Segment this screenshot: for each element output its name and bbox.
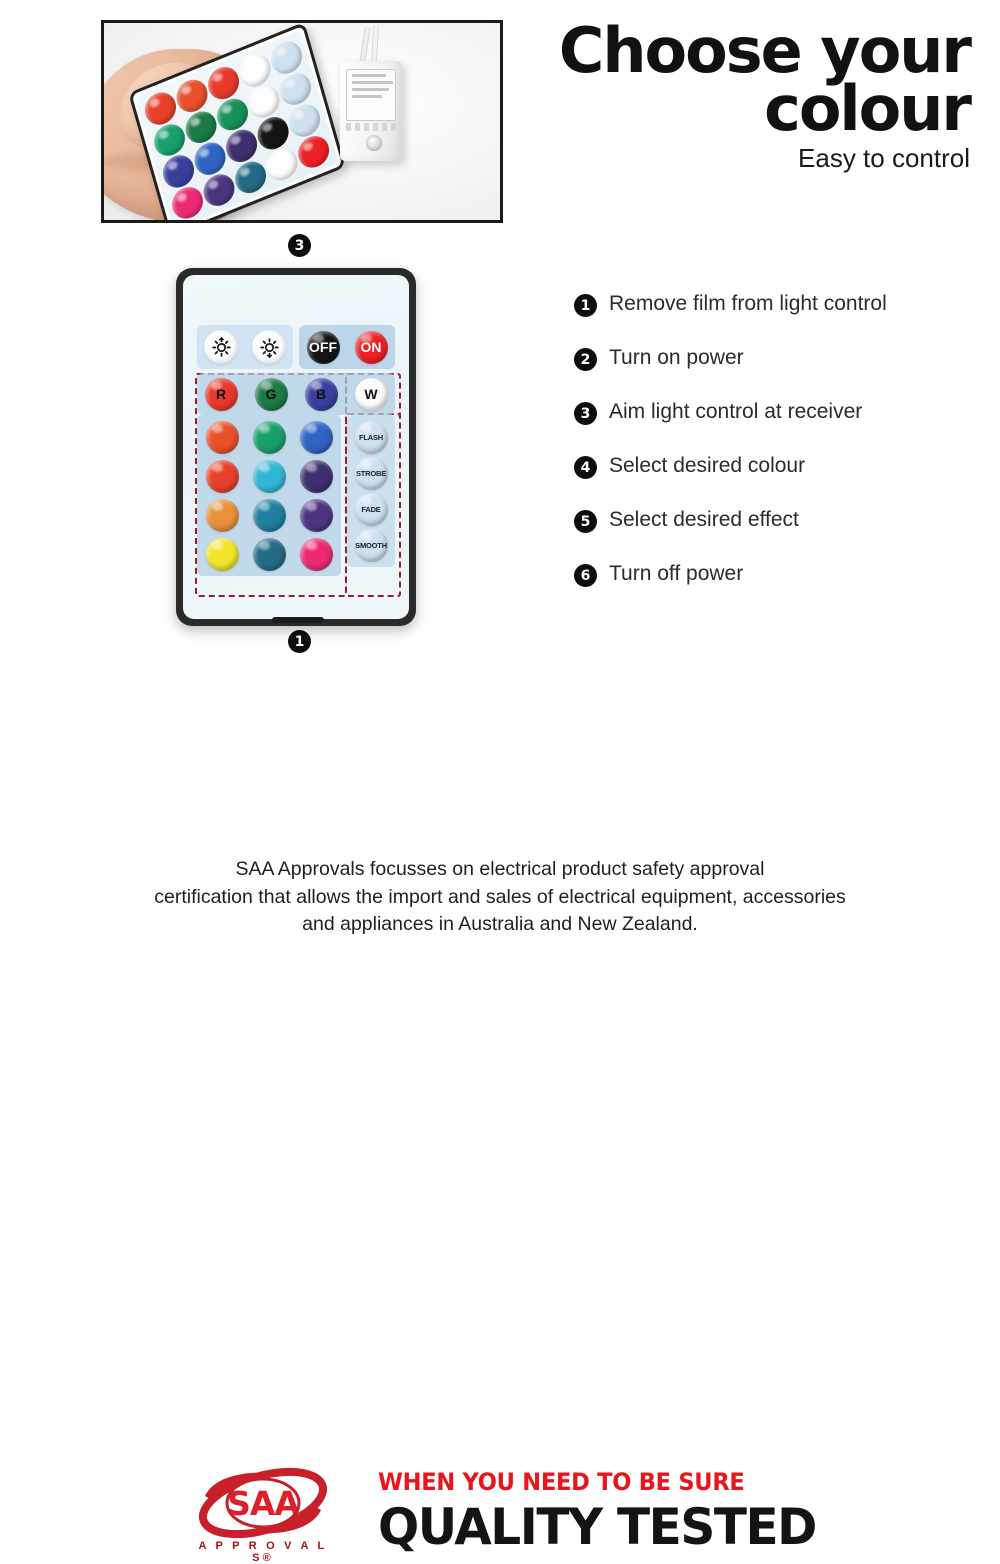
step-number-badge: 4: [574, 456, 597, 479]
list-item: 5 Select desired effect: [574, 508, 974, 533]
colour-swatch-button[interactable]: [294, 419, 338, 455]
saa-logo: SAA A P P R O V A L S®: [193, 1464, 333, 1562]
step-number-badge: 5: [574, 510, 597, 533]
colour-grid-row: [200, 419, 338, 455]
quality-kicker: WHEN YOU NEED TO BE SURE: [378, 1468, 904, 1496]
colour-swatch-button[interactable]: [200, 536, 244, 572]
colour-grid: [197, 415, 341, 576]
colour-grid-row: [200, 497, 338, 533]
headline-subtitle: Easy to control: [540, 143, 970, 174]
red-button: R: [205, 378, 238, 411]
key-white[interactable]: W: [350, 377, 392, 411]
instruction-steps-list: 1 Remove film from light control 2 Turn …: [574, 292, 974, 616]
blurb-line-1: SAA Approvals focusses on electrical pro…: [130, 856, 870, 884]
product-photo: [104, 23, 500, 220]
headline-block: Choose your colour Easy to control: [540, 22, 970, 174]
quality-title: QUALITY TESTED: [378, 1498, 921, 1556]
ir-emitter-lens: [272, 617, 324, 623]
power-tray: OFF ON: [299, 325, 395, 369]
headline-line-2: colour: [540, 80, 970, 138]
quality-tested-block: WHEN YOU NEED TO BE SURE QUALITY TESTED: [378, 1468, 938, 1556]
controller-wire-right: [371, 25, 379, 63]
product-photo-frame: [101, 20, 503, 223]
svg-text:SAA: SAA: [227, 1484, 300, 1523]
colour-swatch-button[interactable]: [247, 458, 291, 494]
colour-swatch-button[interactable]: [294, 536, 338, 572]
remote-diagram: 3 6 2 4 5 1: [160, 232, 440, 652]
colour-swatch-button[interactable]: [247, 536, 291, 572]
step-label: Select desired colour: [609, 454, 805, 477]
step-number-badge: 3: [574, 402, 597, 425]
callout-top: 3: [288, 234, 311, 257]
green-button: G: [255, 378, 288, 411]
controller-terminal-pins: [346, 123, 396, 131]
list-item: 1 Remove film from light control: [574, 292, 974, 317]
brightness-down-icon: [211, 337, 232, 358]
colour-swatch-button[interactable]: [200, 497, 244, 533]
brightness-tray: [197, 325, 293, 369]
step-number-badge: 6: [574, 564, 597, 587]
colour-swatch-button[interactable]: [247, 419, 291, 455]
primary-colour-row: R G B W: [197, 373, 395, 415]
key-red[interactable]: R: [200, 377, 242, 411]
colour-swatch-button[interactable]: [294, 497, 338, 533]
headline-line-1: Choose your: [540, 22, 970, 80]
list-item: 4 Select desired colour: [574, 454, 974, 479]
on-button[interactable]: ON: [355, 331, 388, 364]
remote-body: OFF ON R G: [176, 268, 416, 626]
strobe-label: STROBE: [355, 457, 388, 490]
colour-grid-row: [200, 536, 338, 572]
step-label: Turn off power: [609, 562, 743, 585]
blurb-line-2: certification that allows the import and…: [130, 884, 870, 912]
saa-logo-subtext: A P P R O V A L S®: [193, 1540, 333, 1564]
white-button: W: [355, 378, 388, 411]
list-item: 2 Turn on power: [574, 346, 974, 371]
rgb-controller-box: [340, 61, 402, 161]
saa-description: SAA Approvals focusses on electrical pro…: [130, 856, 870, 939]
colour-swatch-button[interactable]: [294, 458, 338, 494]
key-blue[interactable]: B: [300, 377, 342, 411]
effect-button-smooth[interactable]: SMOOTH: [349, 527, 393, 563]
brightness-up-icon: [259, 337, 280, 358]
function-row: OFF ON: [197, 325, 395, 369]
blurb-line-3: and appliances in Australia and New Zeal…: [130, 911, 870, 939]
colour-swatch-button[interactable]: [200, 419, 244, 455]
saa-logo-mark: SAA: [193, 1466, 333, 1540]
step-label: Select desired effect: [609, 508, 799, 531]
colour-swatch-button[interactable]: [200, 458, 244, 494]
controller-wire-left: [359, 27, 371, 63]
colour-swatch-button[interactable]: [247, 497, 291, 533]
product-infographic: Choose your colour Easy to control 1 Rem…: [0, 0, 1000, 1000]
callout-bottom: 1: [288, 630, 311, 653]
remote-face: OFF ON R G: [183, 275, 409, 619]
effect-button-strobe[interactable]: STROBE: [349, 455, 393, 491]
brightness-up-button[interactable]: [252, 330, 286, 364]
controller-screw: [366, 135, 382, 151]
effect-button-flash[interactable]: FLASH: [349, 419, 393, 455]
effects-column: FLASH STROBE FADE SMOOTH: [347, 415, 395, 567]
fade-label: FADE: [355, 493, 388, 526]
off-button[interactable]: OFF: [307, 331, 340, 364]
step-label: Remove film from light control: [609, 292, 887, 315]
controller-label: [346, 69, 396, 121]
blue-button: B: [305, 378, 338, 411]
list-item: 6 Turn off power: [574, 562, 974, 587]
step-label: Turn on power: [609, 346, 744, 369]
list-item: 3 Aim light control at receiver: [574, 400, 974, 425]
saa-certification-band: SAA A P P R O V A L S® WHEN YOU NEED TO …: [0, 726, 1000, 846]
step-number-badge: 1: [574, 294, 597, 317]
key-green[interactable]: G: [250, 377, 292, 411]
step-number-badge: 2: [574, 348, 597, 371]
smooth-label: SMOOTH: [355, 529, 388, 562]
flash-label: FLASH: [355, 421, 388, 454]
effect-button-fade[interactable]: FADE: [349, 491, 393, 527]
colour-grid-row: [200, 458, 338, 494]
step-label: Aim light control at receiver: [609, 400, 862, 423]
brightness-down-button[interactable]: [204, 330, 238, 364]
